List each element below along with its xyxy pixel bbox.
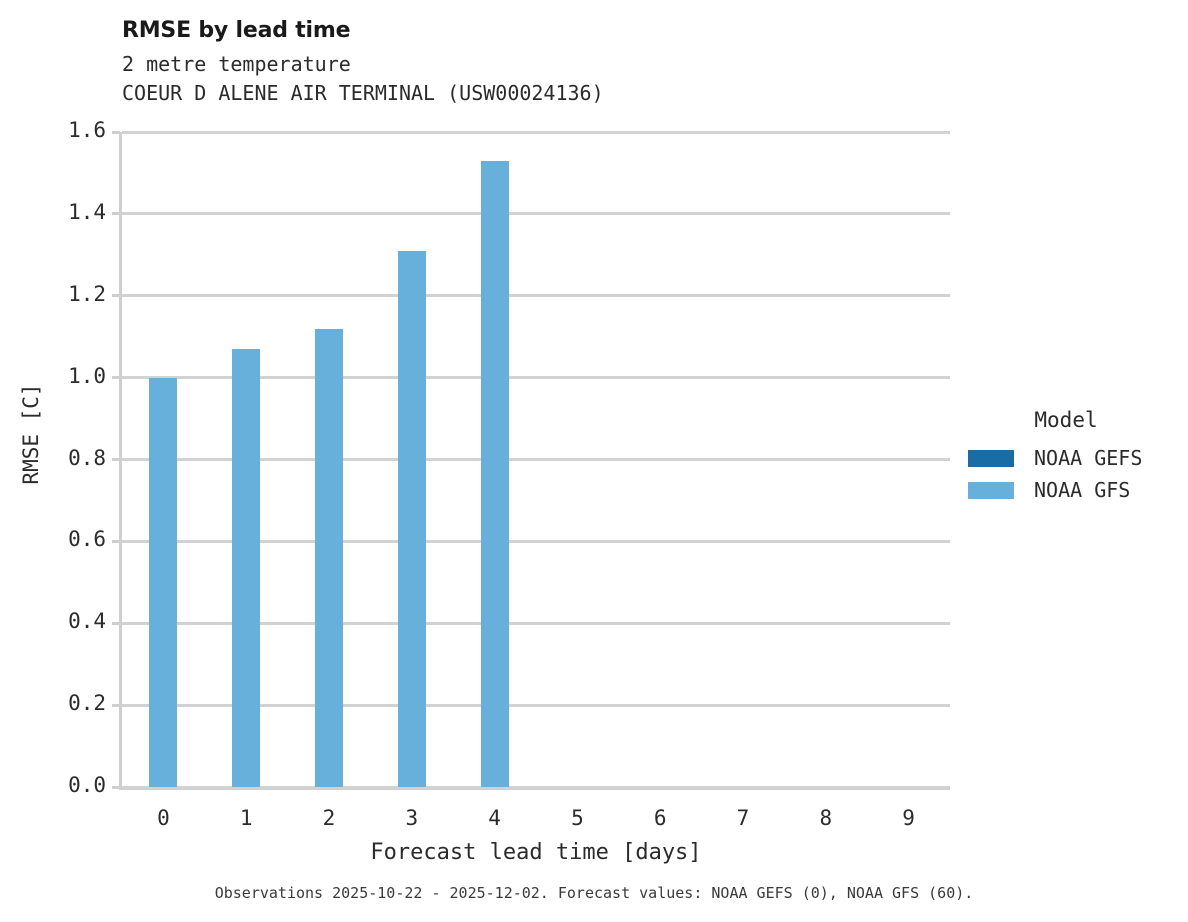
plot-area [122, 132, 950, 787]
y-axis-tick-label: 1.2 [36, 282, 106, 306]
gridline [122, 294, 950, 297]
y-axis-tick-mark [112, 131, 120, 134]
legend-swatch [968, 482, 1014, 499]
y-axis-tick-label: 0.6 [36, 527, 106, 551]
y-axis-tick-mark [112, 540, 120, 543]
legend-swatch [968, 450, 1014, 467]
gridline [122, 131, 950, 134]
x-axis-tick-label: 1 [226, 806, 266, 830]
gridline [122, 212, 950, 215]
bar[interactable] [232, 349, 260, 787]
x-axis-tick-label: 5 [557, 806, 597, 830]
legend-title: Model [968, 408, 1164, 432]
y-axis-tick-mark [112, 786, 120, 789]
chart-caption: Observations 2025-10-22 - 2025-12-02. Fo… [0, 884, 1188, 902]
y-axis-tick-label: 0.0 [36, 773, 106, 797]
legend-items: NOAA GEFSNOAA GFS [968, 442, 1180, 506]
x-axis-tick-label: 7 [723, 806, 763, 830]
y-axis-tick-label: 0.8 [36, 446, 106, 470]
x-axis-tick-label: 0 [143, 806, 183, 830]
bar[interactable] [149, 378, 177, 787]
x-axis-tick-label: 2 [309, 806, 349, 830]
y-axis-tick-label: 1.4 [36, 200, 106, 224]
bar[interactable] [315, 329, 343, 788]
chart-subtitle-variable: 2 metre temperature [122, 52, 351, 76]
y-axis-tick-label: 0.2 [36, 691, 106, 715]
y-axis-tick-mark [112, 376, 120, 379]
x-axis-tick-label: 6 [640, 806, 680, 830]
y-axis-tick-label: 1.0 [36, 364, 106, 388]
legend-label: NOAA GEFS [1034, 446, 1142, 470]
legend-item-noaa-gefs[interactable]: NOAA GEFS [968, 442, 1180, 474]
x-axis-tick-label: 3 [392, 806, 432, 830]
chart-subtitle-station: COEUR D ALENE AIR TERMINAL (USW00024136) [122, 81, 604, 105]
bar[interactable] [481, 161, 509, 787]
y-axis-tick-label: 0.4 [36, 609, 106, 633]
y-axis-tick-mark [112, 622, 120, 625]
x-axis-tick-label: 4 [475, 806, 515, 830]
y-axis-tick-mark [112, 458, 120, 461]
y-axis-tick-mark [112, 704, 120, 707]
legend: Model NOAA GEFSNOAA GFS [968, 408, 1180, 506]
page-title: RMSE by lead time [122, 18, 350, 43]
y-axis-tick-mark [112, 294, 120, 297]
y-axis-tick-mark [112, 212, 120, 215]
y-axis-tick-label: 1.6 [36, 118, 106, 142]
x-axis-title: Forecast lead time [days] [122, 840, 950, 865]
legend-item-noaa-gfs[interactable]: NOAA GFS [968, 474, 1180, 506]
legend-label: NOAA GFS [1034, 478, 1130, 502]
bar[interactable] [398, 251, 426, 787]
x-axis-tick-label: 9 [889, 806, 929, 830]
x-axis-tick-label: 8 [806, 806, 846, 830]
